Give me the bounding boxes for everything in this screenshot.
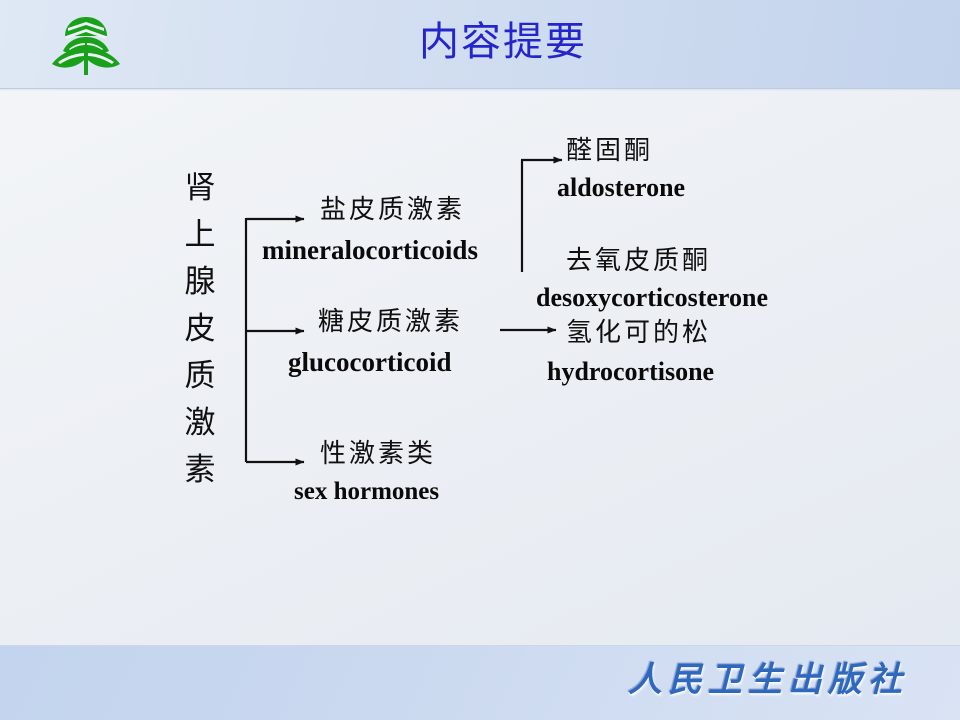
root-char: 上 <box>176 212 224 259</box>
slide-footer-band: 人民卫生出版社 <box>0 645 960 720</box>
diagram-body: 肾 上 腺 皮 质 激 素 盐皮质激素 mineralocorticoids 糖… <box>0 89 960 645</box>
root-char: 激 <box>176 400 224 447</box>
node-glucocorticoid-en: glucocorticoid <box>288 347 451 378</box>
node-hydrocortisone-cn: 氢化可的松 <box>566 312 711 349</box>
root-node-adrenal-cortex-hormones: 肾 上 腺 皮 质 激 素 <box>176 165 224 494</box>
node-sex-hormones-cn: 性激素类 <box>320 433 436 470</box>
node-desoxycorticosterone-cn: 去氧皮质酮 <box>566 240 711 277</box>
node-glucocorticoid-cn: 糖皮质激素 <box>318 301 463 338</box>
publisher-brand-wordmark: 人民卫生出版社 <box>628 652 908 701</box>
root-char: 肾 <box>176 165 224 212</box>
node-aldosterone-en: aldosterone <box>557 173 685 203</box>
node-mineralocorticoids-cn: 盐皮质激素 <box>320 189 465 226</box>
root-char: 腺 <box>176 259 224 306</box>
slide-canvas: 内容提要 <box>0 0 960 720</box>
root-char: 质 <box>176 353 224 400</box>
node-mineralocorticoids-en: mineralocorticoids <box>262 235 478 266</box>
root-char: 皮 <box>176 306 224 353</box>
page-title: 内容提要 <box>0 16 960 68</box>
root-char: 素 <box>176 447 224 494</box>
node-hydrocortisone-en: hydrocortisone <box>547 357 714 387</box>
slide-header-band: 内容提要 <box>0 0 960 89</box>
node-sex-hormones-en: sex hormones <box>294 478 439 506</box>
diagram-connectors <box>0 89 960 645</box>
node-aldosterone-cn: 醛固酮 <box>566 130 653 167</box>
node-desoxycorticosterone-en: desoxycorticosterone <box>536 283 768 313</box>
